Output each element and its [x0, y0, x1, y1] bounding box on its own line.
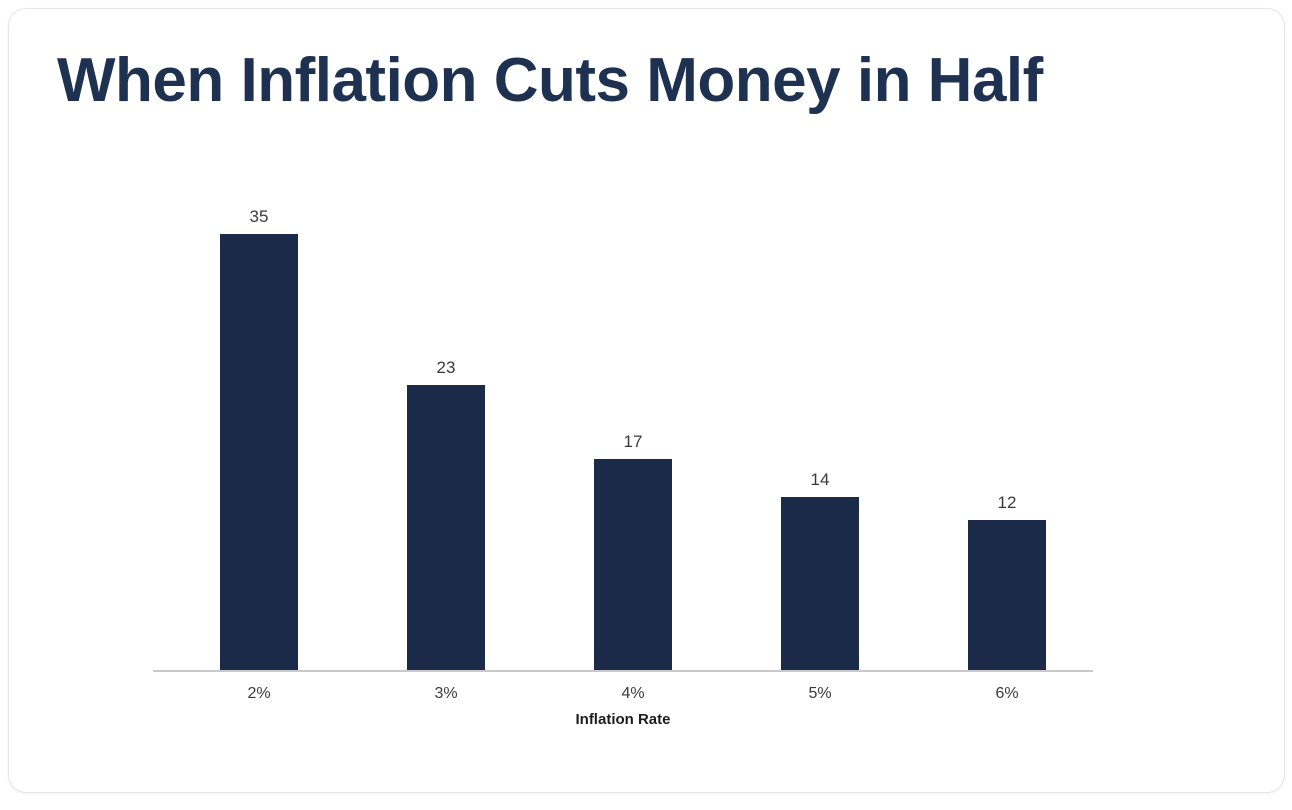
x-tick-label: 3% — [375, 685, 517, 703]
bar-group-4[interactable]: 12 6% — [968, 520, 1046, 670]
bar-value-label: 17 — [572, 432, 694, 452]
bar-series: 35 2% 23 3% 17 4% 14 5% 12 — [9, 9, 1285, 793]
x-tick-label: 2% — [188, 685, 330, 703]
bar-group-3[interactable]: 14 5% — [781, 497, 859, 670]
bar-rect[interactable] — [781, 497, 859, 670]
x-tick-label: 5% — [749, 685, 891, 703]
bar-value-label: 12 — [946, 493, 1068, 513]
bar-rect[interactable] — [220, 234, 298, 670]
bar-group-0[interactable]: 35 2% — [220, 234, 298, 670]
bar-group-2[interactable]: 17 4% — [594, 459, 672, 670]
x-tick-label: 6% — [936, 685, 1078, 703]
bar-value-label: 23 — [385, 358, 507, 378]
bar-value-label: 14 — [759, 470, 881, 490]
chart-plot-area: 35 2% 23 3% 17 4% 14 5% 12 — [9, 9, 1285, 793]
x-tick-label: 4% — [562, 685, 704, 703]
bar-rect[interactable] — [594, 459, 672, 670]
x-axis-title: Inflation Rate — [153, 711, 1093, 728]
slide-card: When Inflation Cuts Money in Half 35 2% … — [8, 8, 1285, 793]
bar-rect[interactable] — [407, 385, 485, 670]
bar-value-label: 35 — [198, 207, 320, 227]
bar-group-1[interactable]: 23 3% — [407, 385, 485, 670]
bar-rect[interactable] — [968, 520, 1046, 670]
